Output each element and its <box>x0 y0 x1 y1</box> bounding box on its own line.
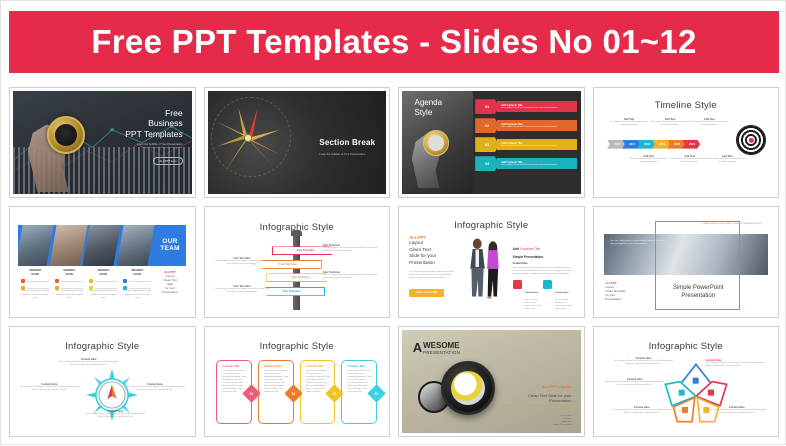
slide-10-title: Infographic Style <box>208 341 387 352</box>
compass-content-block: Content Here Get a modern PowerPoint Pre… <box>124 383 186 392</box>
timeline-step: 2021 <box>682 140 700 149</box>
slide-2-subtitle: Insert the Subtitle of Your Presentation <box>319 153 375 156</box>
right-title: Add Contents Title <box>513 237 574 255</box>
team-photo <box>116 225 155 266</box>
signpost-note: Your Text Here You can simply impress yo… <box>213 285 271 294</box>
block-desc: Get a modern PowerPoint Presentation tha… <box>58 361 120 367</box>
card-label: Content Here <box>555 292 569 294</box>
tagline-line2: Presentation <box>504 398 572 403</box>
awesome-subtitle: PRESENTATION <box>423 350 460 355</box>
member-name-line2: NAME <box>123 273 151 277</box>
right-card: Content Here You can simply impress your… <box>543 280 573 312</box>
awesome-title-block: A WESOME PRESENTATION <box>413 342 461 355</box>
block-desc: Get a modern PowerPoint Presentation tha… <box>613 360 675 366</box>
slide-1-title-line3: PPT Templates <box>125 129 182 140</box>
timeline-caption: Add Text Get a modern PowerPoint Present… <box>650 118 690 127</box>
star-content-block: Content Here Get a modern PowerPoint Pre… <box>604 378 666 387</box>
block-desc: Get a modern PowerPoint Presentation tha… <box>18 386 80 392</box>
slide-thumbnail-3[interactable]: Agenda Style 01 Add Contents Title Get a… <box>398 87 585 198</box>
card-title: Contents Title <box>264 365 289 368</box>
agenda-item-desc: Get a modern PowerPoint Presentation tha… <box>501 164 577 166</box>
timeline-caption: Add Text Get a modern PowerPoint Present… <box>689 118 729 127</box>
slide-11-right-block: ALLPPT Layout Clean Text Slide for your … <box>504 375 572 427</box>
content-card: Contents Title Get a modern PowerPoint P… <box>341 360 377 424</box>
content-card: Contents Title Get a modern PowerPoint P… <box>300 360 336 424</box>
card-title: Contents Title <box>306 365 331 368</box>
team-member: MEMBER NAME You can simply impress your … <box>18 269 52 300</box>
timeline-caption: Add Text Get a modern PowerPoint Present… <box>629 155 669 164</box>
star-content-block: Content Here Get a modern PowerPoint Pre… <box>613 357 675 366</box>
slide-3-title-line1: Agenda <box>414 98 442 108</box>
slide-thumbnail-4[interactable]: Timeline Style Add Text Get a modern Pow… <box>593 87 780 198</box>
compass-device-icon <box>441 361 495 415</box>
timeline-steps: 2016 2017 2018 2019 2020 2021 <box>607 140 697 149</box>
team-member: MEMBER NAME You can simply impress your … <box>52 269 86 300</box>
signpost-note: Your Text Here You can simply impress yo… <box>213 257 271 266</box>
slide-3-title-line2: Style <box>414 108 442 118</box>
signpost-note: Your Text Here You can simply impress yo… <box>323 244 381 253</box>
member-desc: You can simply impress your audience and… <box>55 290 83 300</box>
allppt-note: ALLPPT Layout Clean Text Slide for your … <box>605 281 644 301</box>
block-desc: Get a modern PowerPoint Presentation tha… <box>611 409 673 415</box>
right-title-accent: Contents Title <box>520 247 540 251</box>
team-member: MEMBER NAME You can simply impress your … <box>120 269 154 300</box>
awesome-rest: WESOME <box>423 342 460 350</box>
allppt-lines: Layout Clean Text Slide for your Present… <box>155 274 185 294</box>
note-desc: You can simply impress your audience and… <box>213 260 271 266</box>
member-name-line2: NAME <box>55 273 83 277</box>
note-desc: You can simply impress your audience and… <box>213 288 271 294</box>
social-icon <box>123 279 127 283</box>
agenda-items-list: 01 Add Contents Title Get a modern Power… <box>475 99 577 175</box>
slide-thumbnail-11[interactable]: A WESOME PRESENTATION ALLPPT Layout Clea… <box>398 326 585 437</box>
timeline-caption: Add Text Get a modern PowerPoint Present… <box>609 118 649 127</box>
compass-content-block: Content Here Get a modern PowerPoint Pre… <box>84 410 146 419</box>
slide-9-title: Infographic Style <box>13 341 192 352</box>
slide-3-title-block: Agenda Style <box>414 98 442 118</box>
right-desc: Get a modern PowerPoint Presentation tha… <box>513 267 574 276</box>
timeline-caption-desc: Get a modern PowerPoint Presentation tha… <box>689 121 729 127</box>
slide-12-title: Infographic Style <box>597 341 776 352</box>
star-content-block: Content Here Get a modern PowerPoint Pre… <box>611 406 673 415</box>
team-member: MEMBER NAME You can simply impress your … <box>86 269 120 300</box>
card-label: Content Here <box>525 292 539 294</box>
compass-icon <box>47 116 85 154</box>
keyword-item: Options Presentation <box>504 424 572 427</box>
block-desc: Get a modern PowerPoint Presentation tha… <box>124 386 186 392</box>
social-row[interactable] <box>89 279 117 283</box>
slide-thumbnail-12[interactable]: Infographic Style <box>593 326 780 437</box>
timeline-step: 2017 <box>622 140 640 149</box>
slides-grid: Free Business PPT Templates Insert the S… <box>9 87 779 437</box>
note-desc: You can simply impress your audience and… <box>323 247 381 253</box>
small-desc: You can simply impress your audience and… <box>504 405 572 411</box>
allppt-lines: Layout Clean Text Slide for your Present… <box>605 285 644 301</box>
card-icon <box>513 280 522 289</box>
block-desc: Get a modern PowerPoint Presentation tha… <box>604 381 666 387</box>
card-desc: You can simply impress your audience and… <box>525 299 543 311</box>
slide-7-title: Infographic Style <box>402 220 581 231</box>
slide-thumbnail-9[interactable]: Infographic Style <box>9 326 196 437</box>
target-dartboard-icon <box>736 125 766 155</box>
slide-7-right-block: Add Contents Title Simple Presentation C… <box>513 237 574 311</box>
slide-1-title-line2: Business <box>125 118 182 129</box>
right-subtitle: Simple Presentation <box>513 255 574 259</box>
left-desc: You can simply impress your audience and… <box>409 271 455 281</box>
content-card: Contents Title Get a modern PowerPoint P… <box>216 360 252 424</box>
allppt-brand: ALLPPT Layout <box>542 384 572 389</box>
agenda-item: 02 Add Contents Title Get a modern Power… <box>475 118 577 133</box>
add-contents-title-button[interactable]: Add Contents Title <box>409 289 444 297</box>
templates-gallery-page: Free PPT Templates - Slides No 01~12 <box>1 1 786 446</box>
card-title: Contents Title <box>347 365 372 368</box>
slide-thumbnail-6[interactable]: Infographic Style Your Text Here Your Te… <box>204 206 391 317</box>
slide-1-subtitle: Insert the Subtitle of Your Presentation <box>125 143 182 146</box>
banner-title: Free PPT Templates - Slides No 01~12 <box>91 23 696 61</box>
agenda-item-number: 04 <box>475 156 499 171</box>
allppt-badge: ALLPPT.com <box>153 157 182 165</box>
timeline-caption-desc: Get a modern PowerPoint Presentation tha… <box>629 158 669 164</box>
team-photo <box>83 225 122 266</box>
member-name-line2: NAME <box>89 273 117 277</box>
block-desc: Get a modern PowerPoint Presentation tha… <box>706 362 768 368</box>
card-desc: Get a modern PowerPoint Presentation tha… <box>306 370 331 394</box>
agenda-item-desc: Get a modern PowerPoint Presentation tha… <box>501 145 577 147</box>
compass-icon <box>423 130 449 156</box>
block-desc: Get a modern PowerPoint Presentation tha… <box>84 413 146 419</box>
agenda-item-body: Add Contents Title Get a modern PowerPoi… <box>497 120 577 131</box>
team-photo <box>18 225 54 266</box>
slide-1-title-line1: Free <box>125 108 182 119</box>
timeline-caption-desc: Get a modern PowerPoint Presentation tha… <box>670 158 710 164</box>
slide-2-text-block: Section Break Insert the Subtitle of You… <box>319 132 375 156</box>
member-desc: You can simply impress your audience and… <box>123 290 151 300</box>
star-content-block: Content Here Get a modern PowerPoint Pre… <box>706 406 768 415</box>
page-banner: Free PPT Templates - Slides No 01~12 <box>9 11 779 73</box>
agenda-item-desc: Get a modern PowerPoint Presentation tha… <box>501 107 577 109</box>
agenda-item: 01 Add Contents Title Get a modern Power… <box>475 99 577 114</box>
people-illustration <box>461 233 507 303</box>
timeline-step: 2018 <box>637 140 655 149</box>
agenda-item-number: 01 <box>475 99 499 114</box>
content-card: Contents Title Get a modern PowerPoint P… <box>258 360 294 424</box>
compass-rose-icon <box>213 103 283 173</box>
right-title-plain: Add <box>513 247 520 251</box>
note-desc: You can simply impress your audience and… <box>323 274 381 280</box>
card-desc: Get a modern PowerPoint Presentation tha… <box>222 370 247 394</box>
allppt-note: ALLPPT Layout Clean Text Slide for your … <box>155 270 185 294</box>
slide-thumbnail-5[interactable]: OUR TEAM MEMBER NAME You can simply impr… <box>9 206 196 317</box>
slide-8-title-line2: Presentation <box>661 293 736 301</box>
our-team-line2: TEAM <box>160 245 180 252</box>
right-content-label: Content Here <box>513 262 574 265</box>
agenda-item-number: 03 <box>475 137 499 152</box>
timeline-step: 2020 <box>667 140 685 149</box>
agenda-item-body: Add Contents Title Get a modern PowerPoi… <box>497 101 577 112</box>
slide-8-title-line1: Simple PowerPoint <box>661 285 736 293</box>
slide-7-left-block: ALLPPT Layout Clean Text Slide for your … <box>409 235 455 298</box>
team-photo <box>49 225 88 266</box>
timeline-step: 2016 <box>607 140 625 149</box>
member-desc: You can simply impress your audience and… <box>21 290 49 300</box>
timeline-caption: Add Text Get a modern PowerPoint Present… <box>670 155 710 164</box>
timeline-step: 2019 <box>652 140 670 149</box>
slide-thumbnail-10[interactable]: Infographic Style Contents Title Get a m… <box>204 326 391 437</box>
right-card: Content Here You can simply impress your… <box>513 280 543 312</box>
agenda-item-body: Add Contents Title Get a modern PowerPoi… <box>497 139 577 150</box>
our-team-line1: OUR <box>162 238 177 245</box>
agenda-item-desc: Get a modern PowerPoint Presentation tha… <box>501 126 577 128</box>
signpost-graphic <box>293 235 300 309</box>
card-desc: Get a modern PowerPoint Presentation tha… <box>347 370 372 394</box>
right-cards: Content Here You can simply impress your… <box>513 280 574 312</box>
slide-1-url: www.free-powerpoint-templates-design.com <box>125 147 182 149</box>
block-desc: Get a modern PowerPoint Presentation tha… <box>706 409 768 415</box>
agenda-item: 04 Add Contents Title Get a modern Power… <box>475 156 577 171</box>
timeline-caption-desc: Get a modern PowerPoint Presentation tha… <box>707 158 747 164</box>
left-lines: Layout Clean Text Slide for your Present… <box>409 240 455 267</box>
slide-thumbnail-8[interactable]: LOREM IPSUM DOLOR SIT AMET CONSECTETUR A… <box>593 206 780 317</box>
compass-content-block: Content Here Get a modern PowerPoint Pre… <box>18 383 80 392</box>
star-content-block: Content Here Get a modern PowerPoint Pre… <box>706 359 768 368</box>
slide-thumbnail-1[interactable]: Free Business PPT Templates Insert the S… <box>9 87 196 198</box>
agenda-item-body: Add Contents Title Get a modern PowerPoi… <box>497 158 577 169</box>
slide-1-text-block: Free Business PPT Templates Insert the S… <box>125 108 182 168</box>
card-desc: Get a modern PowerPoint Presentation tha… <box>264 370 289 394</box>
signpost-note: Your Text Here You can simply impress yo… <box>323 271 381 280</box>
slide-2-title: Section Break <box>319 138 375 147</box>
timeline-caption-desc: Get a modern PowerPoint Presentation tha… <box>609 121 649 127</box>
member-desc: You can simply impress your audience and… <box>89 290 117 300</box>
slide-4-title: Timeline Style <box>597 100 776 111</box>
social-icon <box>55 279 59 283</box>
member-name-line2: NAME <box>21 273 49 277</box>
social-row[interactable] <box>123 279 151 283</box>
card-desc: You can simply impress your audience and… <box>555 299 573 311</box>
slide-thumbnail-2[interactable]: Section Break Insert the Subtitle of You… <box>204 87 391 198</box>
our-team-headline: OUR TEAM <box>155 227 185 264</box>
slide-thumbnail-7[interactable]: Infographic Style ALLPPT Layout Clean Te… <box>398 206 585 317</box>
social-row[interactable] <box>21 279 49 283</box>
social-icon <box>21 279 25 283</box>
timeline-caption: Add Text Get a modern PowerPoint Present… <box>707 155 747 164</box>
card-icon <box>543 280 552 289</box>
social-row[interactable] <box>55 279 83 283</box>
awesome-cap-letter: A <box>413 342 422 353</box>
card-title: Contents Title <box>222 365 247 368</box>
slide-8-title: Simple PowerPoint Presentation <box>661 285 736 301</box>
agenda-item-number: 02 <box>475 118 499 133</box>
timeline-caption-desc: Get a modern PowerPoint Presentation tha… <box>650 121 690 127</box>
compass-content-block: Content Here Get a modern PowerPoint Pre… <box>58 358 120 367</box>
content-cards: Contents Title Get a modern PowerPoint P… <box>216 360 377 424</box>
social-icon <box>89 279 93 283</box>
keyword-list: Presentation Business Infographic Option… <box>504 415 572 428</box>
agenda-item: 03 Add Contents Title Get a modern Power… <box>475 137 577 152</box>
